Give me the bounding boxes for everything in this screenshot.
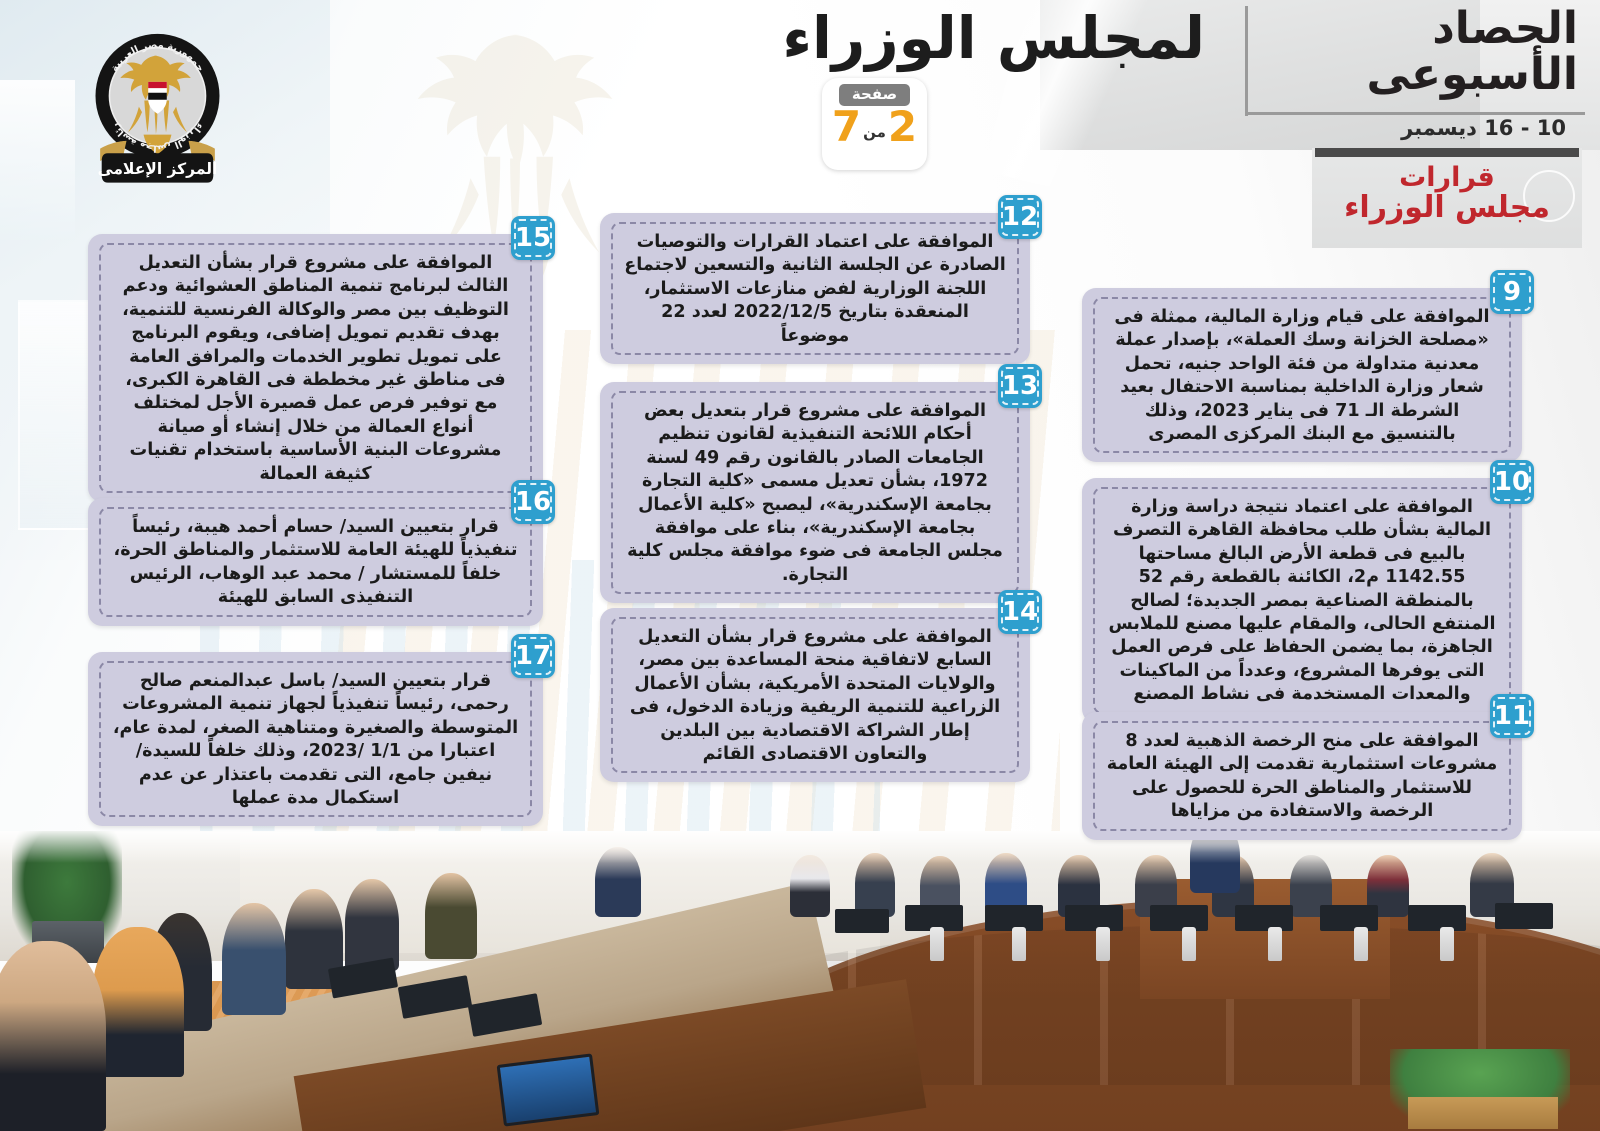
card-number-badge: 14 — [998, 590, 1042, 634]
page-numbers: 2 من 7 — [822, 107, 927, 147]
logo-ribbon-text: المركز الإعلامى — [98, 160, 218, 178]
header-title-line1: الحصاد — [1158, 6, 1578, 52]
decision-card-14[interactable]: 14 الموافقة على مشروع قرار بشأن التعديل … — [600, 608, 1030, 782]
page-total-number: 7 — [832, 107, 861, 147]
header-title-block: الحصاد الأسبوعى — [1158, 6, 1578, 98]
card-text: الموافقة على اعتماد القرارات والتوصيات ا… — [600, 213, 1030, 364]
photo-attendee — [425, 873, 477, 959]
card-text: الموافقة على مشروع قرار بتعديل بعض أحكام… — [600, 382, 1030, 603]
photo-laptop — [835, 909, 889, 933]
photo-pm-podium — [1140, 879, 1390, 999]
photo-laptop — [1408, 905, 1466, 931]
card-number-badge: 9 — [1490, 270, 1534, 314]
decision-card-16[interactable]: 16 قرار بتعيين السيد/ حسام أحمد هيبة، رئ… — [88, 498, 543, 626]
card-number-badge: 17 — [511, 634, 555, 678]
photo-water-bottle — [1182, 927, 1196, 961]
decision-card-11[interactable]: 11 الموافقة على منح الرخصة الذهبية لعدد … — [1082, 712, 1522, 840]
decision-card-9[interactable]: 9 الموافقة على قيام وزارة المالية، ممثلة… — [1082, 288, 1522, 462]
decision-card-13[interactable]: 13 الموافقة على مشروع قرار بتعديل بعض أح… — [600, 382, 1030, 603]
card-number-badge: 12 — [998, 195, 1042, 239]
photo-laptop — [1150, 905, 1208, 931]
section-header-label: قرارات مجلس الوزراء — [1316, 163, 1578, 225]
card-number-badge: 13 — [998, 364, 1042, 408]
infographic-canvas: لمجلس الوزراء الحصاد الأسبوعى 10 - 16 دي… — [0, 0, 1600, 1131]
decision-card-10[interactable]: 10 الموافقة على اعتماد نتيجة دراسة وزارة… — [1082, 478, 1522, 723]
card-number-badge: 16 — [511, 480, 555, 524]
header-title-main: لمجلس الوزراء — [782, 4, 1205, 72]
card-text: الموافقة على مشروع قرار بشأن التعديل الس… — [600, 608, 1030, 782]
page-separator: من — [863, 123, 886, 147]
background-panel-b — [0, 80, 75, 240]
card-text: قرار بتعيين السيد/ باسل عبدالمنعم صالح ر… — [88, 652, 543, 826]
header-title-line2: الأسبوعى — [1158, 52, 1578, 98]
photo-water-bottle — [930, 927, 944, 961]
section-label-line1: قرارات — [1316, 163, 1578, 192]
cabinet-meeting-photo — [0, 831, 1600, 1131]
decision-card-17[interactable]: 17 قرار بتعيين السيد/ باسل عبدالمنعم صال… — [88, 652, 543, 826]
card-text: الموافقة على مشروع قرار بشأن التعديل الث… — [88, 234, 543, 502]
photo-laptop — [1320, 905, 1378, 931]
header-date-range: 10 - 16 ديسمبر — [1401, 116, 1566, 140]
photo-monitor-screen — [497, 1053, 600, 1126]
card-text: الموافقة على قيام وزارة المالية، ممثلة ف… — [1082, 288, 1522, 462]
photo-laptop — [1065, 905, 1123, 931]
card-text: الموافقة على اعتماد نتيجة دراسة وزارة ال… — [1082, 478, 1522, 723]
photo-attendee — [222, 903, 286, 1015]
photo-laptop — [1495, 903, 1553, 929]
cabinet-media-center-logo-icon: جمهورية مصر العربية رئاسة مجلس الوزراء ا… — [80, 25, 235, 190]
page-indicator-badge: صفحة 2 من 7 — [822, 78, 927, 170]
photo-plant-right-icon — [1390, 1049, 1570, 1129]
photo-water-bottle — [1440, 927, 1454, 961]
photo-water-bottle — [1012, 927, 1026, 961]
page-current-number: 2 — [888, 107, 917, 147]
photo-attendee-foreground — [0, 941, 106, 1131]
photo-water-bottle — [1268, 927, 1282, 961]
photo-attendee — [790, 855, 830, 917]
section-label-line2: مجلس الوزراء — [1316, 192, 1578, 224]
photo-water-bottle — [1354, 927, 1368, 961]
card-number-badge: 15 — [511, 216, 555, 260]
card-text: الموافقة على منح الرخصة الذهبية لعدد 8 م… — [1082, 712, 1522, 840]
card-text: قرار بتعيين السيد/ حسام أحمد هيبة، رئيسا… — [88, 498, 543, 626]
decision-card-15[interactable]: 15 الموافقة على مشروع قرار بشأن التعديل … — [88, 234, 543, 502]
header-divider-vertical — [1245, 6, 1248, 116]
photo-water-bottle — [1096, 927, 1110, 961]
header-divider-horizontal — [1247, 112, 1585, 115]
photo-laptop — [1235, 905, 1293, 931]
decision-card-12[interactable]: 12 الموافقة على اعتماد القرارات والتوصيا… — [600, 213, 1030, 364]
card-number-badge: 10 — [1490, 460, 1534, 504]
card-number-badge: 11 — [1490, 694, 1534, 738]
